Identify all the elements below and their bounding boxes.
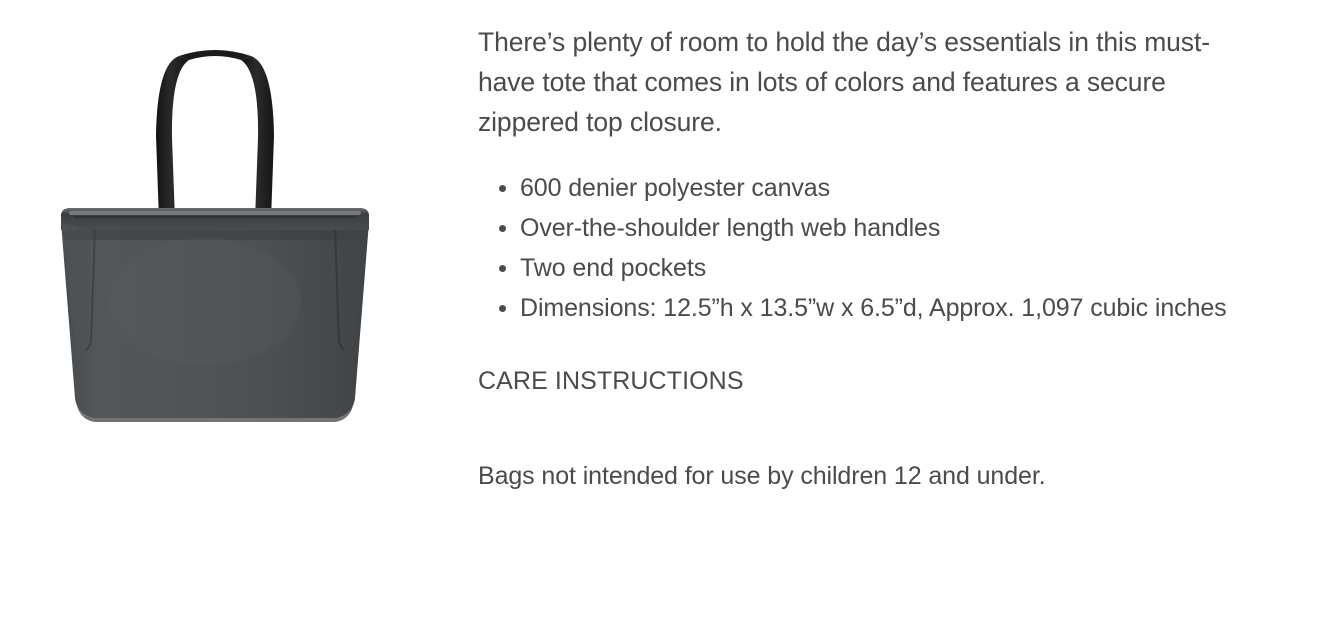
feature-text: Over-the-shoulder length web handles <box>520 214 940 242</box>
bag-right-pocket-face <box>339 222 369 340</box>
age-disclaimer: Bags not intended for use by children 12… <box>478 459 1342 493</box>
bullet-icon <box>499 225 506 232</box>
handle-right-strap <box>241 56 274 220</box>
feature-text: Two end pockets <box>520 254 706 282</box>
bullet-icon <box>499 185 506 192</box>
bag-body-sheen <box>109 238 301 366</box>
product-description: There’s plenty of room to hold the day’s… <box>478 22 1246 142</box>
product-image-column <box>0 0 470 638</box>
tote-body <box>61 208 369 422</box>
product-feature-list: 600 denier polyester canvas Over-the-sho… <box>478 168 1238 328</box>
list-item: 600 denier polyester canvas <box>478 168 1238 208</box>
product-image-tote-bag <box>55 40 375 440</box>
bag-zipper-teeth <box>73 216 357 218</box>
tote-handles <box>156 50 274 220</box>
handle-apex <box>179 50 251 60</box>
product-detail-page: There’s plenty of room to hold the day’s… <box>0 0 1342 638</box>
list-item: Two end pockets <box>478 248 1238 288</box>
bullet-icon <box>499 265 506 272</box>
product-copy-column: There’s plenty of room to hold the day’s… <box>470 0 1342 493</box>
list-item: Over-the-shoulder length web handles <box>478 208 1238 248</box>
care-instructions-heading: CARE INSTRUCTIONS <box>478 364 1342 398</box>
feature-text: Dimensions: 12.5”h x 13.5”w x 6.5”d, App… <box>520 294 1227 322</box>
bag-zipper-tape <box>69 211 361 215</box>
feature-text: 600 denier polyester canvas <box>520 174 830 202</box>
list-item: Dimensions: 12.5”h x 13.5”w x 6.5”d, App… <box>478 288 1238 328</box>
tote-bag-illustration <box>55 40 375 440</box>
bullet-icon <box>499 305 506 312</box>
bag-left-pocket-face <box>61 222 91 340</box>
handle-left-strap <box>156 56 189 220</box>
